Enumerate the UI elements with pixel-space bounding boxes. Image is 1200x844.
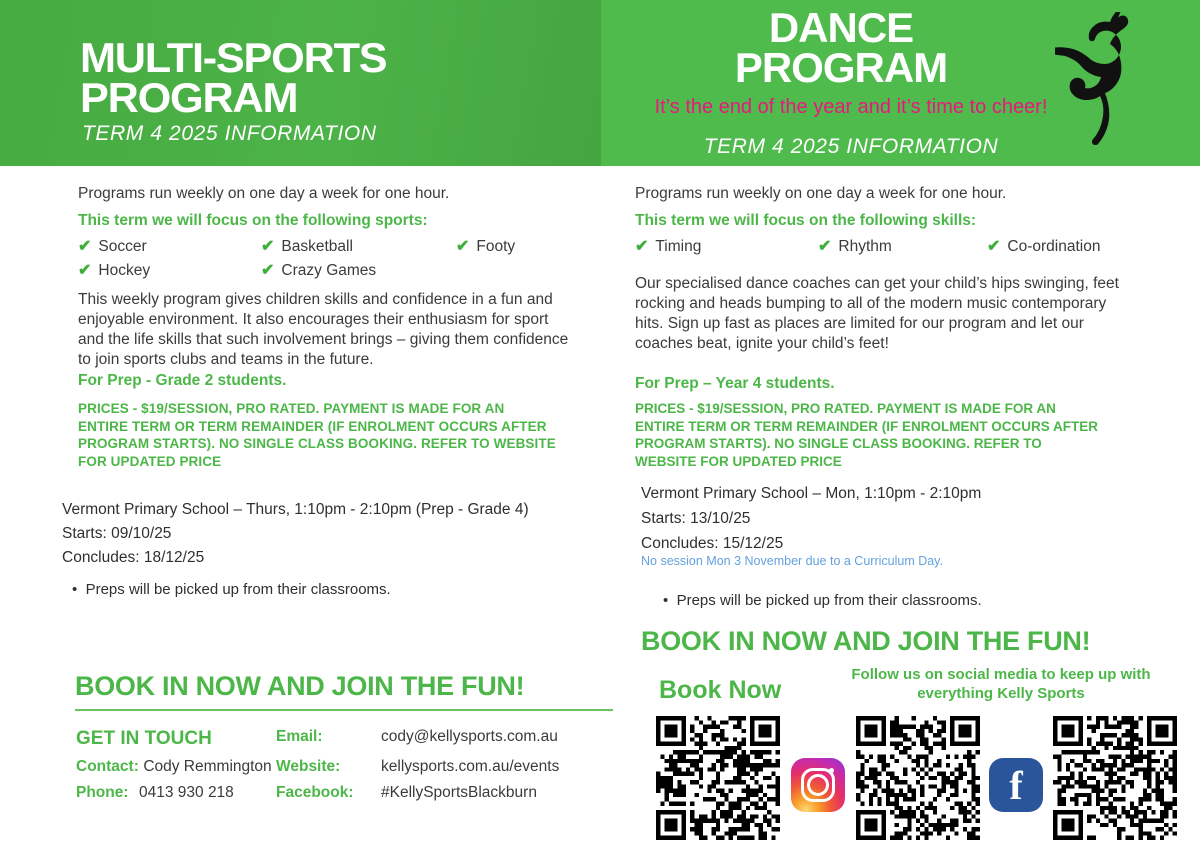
qr-code-row: f [601, 706, 1200, 844]
facebook-label: Facebook: [276, 784, 381, 802]
left-schedule-concludes: Concludes: 18/12/25 [62, 546, 529, 570]
checklist-item-rhythm: ✔ Rhythm [818, 238, 892, 256]
left-schedule-venue: Vermont Primary School – Thurs, 1:10pm -… [62, 498, 529, 522]
contact-value: Cody Remmington [143, 758, 271, 775]
right-skills-checklist: ✔ Timing ✔ Rhythm ✔ Co-ordination [635, 238, 1145, 262]
checklist-label: Rhythm [838, 238, 891, 256]
email-label: Email: [276, 728, 381, 750]
check-icon: ✔ [818, 239, 831, 255]
right-schedule-starts: Starts: 13/10/25 [641, 506, 981, 531]
facebook-glyph: f [1009, 762, 1022, 809]
check-icon: ✔ [78, 239, 91, 255]
checklist-label: Soccer [98, 238, 146, 256]
multi-sports-subtitle: TERM 4 2025 INFORMATION [82, 122, 377, 146]
multi-sports-title: MULTI-SPORTS PROGRAM [80, 38, 386, 118]
multi-sports-title-line2: PROGRAM [80, 78, 386, 118]
checklist-label: Crazy Games [281, 262, 376, 280]
checklist-item-timing: ✔ Timing [635, 238, 701, 256]
checklist-row: ✔ Timing ✔ Rhythm ✔ Co-ordination [635, 238, 1145, 262]
follow-us-label: Follow us on social media to keep up wit… [841, 666, 1161, 704]
right-schedule: Vermont Primary School – Mon, 1:10pm - 2… [641, 481, 981, 556]
left-sports-checklist: ✔ Soccer ✔ Basketball ✔ Footy ✔ Hockey [78, 238, 578, 286]
book-now-qr-code[interactable] [656, 716, 780, 840]
checklist-label: Timing [655, 238, 701, 256]
website-label: Website: [276, 758, 381, 776]
right-prices-text: PRICES - $19/SESSION, PRO RATED. PAYMENT… [635, 400, 1105, 470]
facebook-qr-code[interactable] [1053, 716, 1177, 840]
instagram-icon[interactable] [791, 758, 845, 812]
checklist-row: ✔ Hockey ✔ Crazy Games [78, 262, 578, 286]
checklist-item-crazy-games: ✔ Crazy Games [261, 262, 376, 280]
contact-label: Contact: [76, 758, 139, 775]
checklist-item-soccer: ✔ Soccer [78, 238, 147, 256]
right-description-paragraph: Our specialised dance coaches can get yo… [635, 274, 1135, 355]
left-for-students: For Prep - Grade 2 students. [78, 372, 286, 390]
checklist-item-coordination: ✔ Co-ordination [987, 238, 1100, 256]
right-book-heading: BOOK IN NOW AND JOIN THE FUN! [641, 626, 1090, 657]
left-book-heading: BOOK IN NOW AND JOIN THE FUN! [75, 671, 524, 702]
check-icon: ✔ [78, 263, 91, 279]
check-icon: ✔ [635, 239, 648, 255]
check-icon: ✔ [456, 239, 469, 255]
flyer-page: MULTI-SPORTS PROGRAM TERM 4 2025 INFORMA… [0, 0, 1200, 844]
checklist-label: Hockey [98, 262, 150, 280]
dance-title-line1: DANCE [601, 8, 1081, 48]
instagram-dot [829, 768, 834, 773]
checklist-row: ✔ Soccer ✔ Basketball ✔ Footy [78, 238, 578, 262]
dancer-silhouette-icon [1055, 12, 1165, 162]
right-schedule-venue: Vermont Primary School – Mon, 1:10pm - 2… [641, 481, 981, 506]
left-preps-bullet: • Preps will be picked up from their cla… [72, 581, 391, 598]
right-intro-text: Programs run weekly on one day a week fo… [635, 184, 1006, 204]
facebook-value[interactable]: #KellySportsBlackburn [381, 784, 596, 802]
checklist-item-hockey: ✔ Hockey [78, 262, 150, 280]
email-value[interactable]: cody@kellysports.com.au [381, 728, 596, 750]
check-icon: ✔ [987, 239, 1000, 255]
left-intro-text: Programs run weekly on one day a week fo… [78, 184, 449, 204]
website-value[interactable]: kellysports.com.au/events [381, 758, 596, 776]
left-divider-rule [75, 709, 613, 711]
book-now-label: Book Now [659, 676, 781, 705]
right-preps-bullet-text: Preps will be picked up from their class… [677, 592, 982, 609]
instagram-qr-code[interactable] [856, 716, 980, 840]
instagram-lens [807, 774, 829, 796]
right-schedule-note: No session Mon 3 November due to a Curri… [641, 554, 943, 568]
right-schedule-concludes: Concludes: 15/12/25 [641, 531, 981, 556]
left-schedule-starts: Starts: 09/10/25 [62, 522, 529, 546]
get-in-touch-block: GET IN TOUCH Email: cody@kellysports.com… [76, 728, 596, 802]
check-icon: ✔ [261, 263, 274, 279]
checklist-label: Co-ordination [1007, 238, 1100, 256]
checklist-item-basketball: ✔ Basketball [261, 238, 353, 256]
right-for-students: For Prep – Year 4 students. [635, 375, 835, 393]
left-prices-text: PRICES - $19/SESSION, PRO RATED. PAYMENT… [78, 400, 558, 470]
contact-row: Contact: Cody Remmington [76, 758, 276, 776]
right-focus-heading: This term we will focus on the following… [635, 212, 976, 230]
multi-sports-title-line1: MULTI-SPORTS [80, 38, 386, 78]
check-icon: ✔ [261, 239, 274, 255]
checklist-label: Basketball [281, 238, 353, 256]
phone-value: 0413 930 218 [139, 784, 234, 801]
facebook-icon[interactable]: f [989, 758, 1043, 812]
get-in-touch-heading: GET IN TOUCH [76, 728, 276, 750]
checklist-item-footy: ✔ Footy [456, 238, 515, 256]
phone-row: Phone: 0413 930 218 [76, 784, 276, 802]
dance-tagline: It’s the end of the year and it’s time t… [601, 96, 1101, 119]
checklist-label: Footy [476, 238, 515, 256]
left-description-paragraph: This weekly program gives children skill… [78, 290, 578, 371]
left-focus-heading: This term we will focus on the following… [78, 212, 428, 230]
dance-title: DANCE PROGRAM [601, 8, 1081, 88]
right-preps-bullet: • Preps will be picked up from their cla… [663, 592, 982, 609]
left-preps-bullet-text: Preps will be picked up from their class… [86, 581, 391, 598]
dance-title-line2: PROGRAM [601, 48, 1081, 88]
phone-label: Phone: [76, 784, 129, 801]
left-schedule: Vermont Primary School – Thurs, 1:10pm -… [62, 498, 529, 570]
dance-subtitle: TERM 4 2025 INFORMATION [601, 135, 1101, 159]
